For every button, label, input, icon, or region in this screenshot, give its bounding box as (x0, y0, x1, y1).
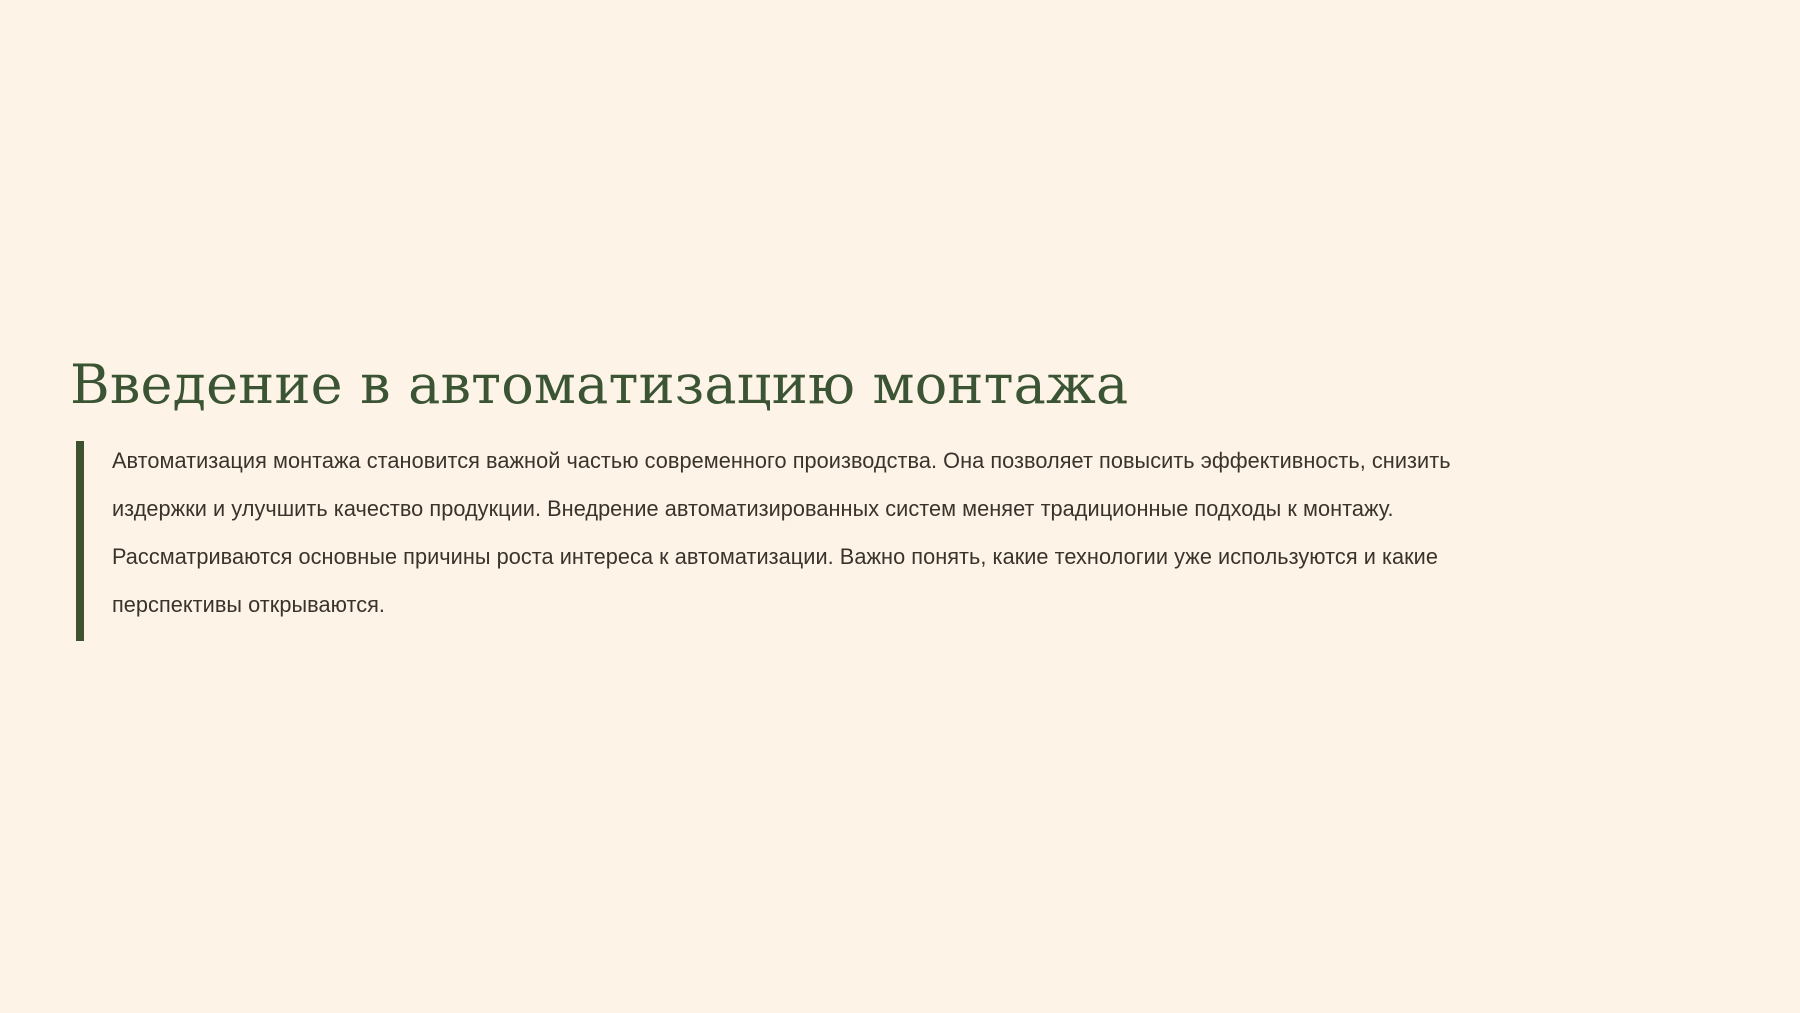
slide-canvas: Введение в автоматизацию монтажа Автомат… (0, 0, 1800, 1013)
slide-content: Введение в автоматизацию монтажа Автомат… (70, 355, 1730, 629)
quote-block: Автоматизация монтажа становится важной … (70, 437, 1730, 629)
body-paragraph: Автоматизация монтажа становится важной … (112, 437, 1463, 629)
page-title: Введение в автоматизацию монтажа (70, 355, 1730, 415)
accent-bar (76, 441, 84, 641)
